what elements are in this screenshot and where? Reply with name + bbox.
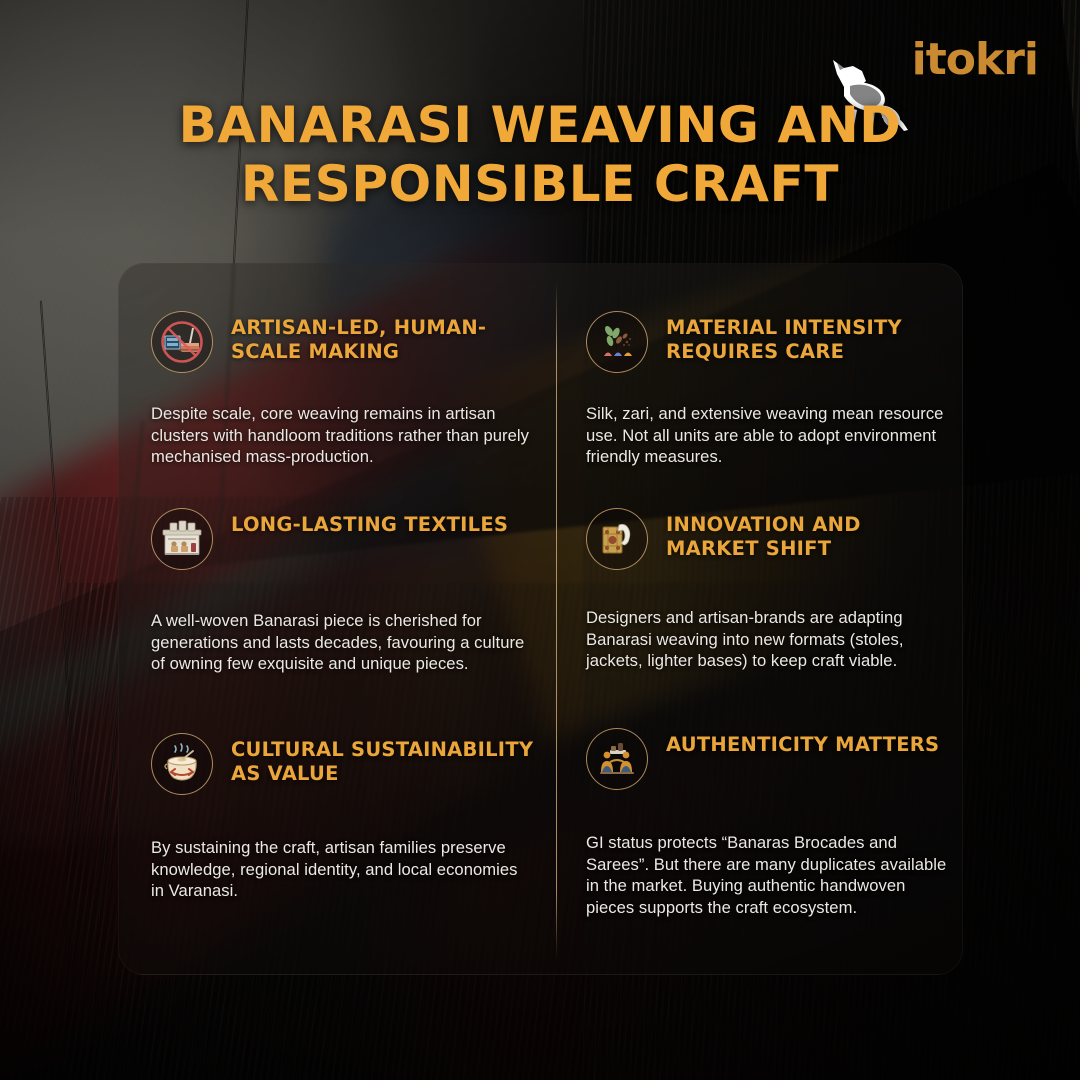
craft-shop-icon [151,508,213,570]
card-title: MATERIAL INTENSITY REQUIRES CARE [666,311,950,364]
page-title: BANARASI WEAVING AND RESPONSIBLE CRAFT [0,96,1080,214]
card-title: AUTHENTICITY MATTERS [666,728,939,757]
hand-holding-fabric-swatch-icon [586,508,648,570]
card-title: LONG-LASTING TEXTILES [231,508,508,537]
content-panel: ARTISAN-LED, HUMAN-SCALE MAKING Despite … [118,263,963,975]
card-body: By sustaining the craft, artisan familie… [151,837,534,902]
card-material-intensity: MATERIAL INTENSITY REQUIRES CARE Silk, z… [556,264,964,474]
card-header: MATERIAL INTENSITY REQUIRES CARE [586,311,950,373]
brand-logo: itokri [912,34,1038,85]
two-artisans-seated-icon [586,728,648,790]
card-body: Designers and artisan-brands are adaptin… [586,607,950,672]
card-title: CULTURAL SUSTAINABILITY AS VALUE [231,733,534,786]
no-machine-loom-icon [151,311,213,373]
card-body: Silk, zari, and extensive weaving mean r… [586,403,950,468]
card-title: ARTISAN-LED, HUMAN-SCALE MAKING [231,311,534,364]
card-body: GI status protects “Banaras Brocades and… [586,832,950,919]
card-long-lasting-textiles: LONG-LASTING TEXTILES A well-woven Banar… [119,474,556,690]
card-artisan-led: ARTISAN-LED, HUMAN-SCALE MAKING Despite … [119,264,556,474]
natural-dye-leaves-icon [586,311,648,373]
page-title-line-2: RESPONSIBLE CRAFT [0,155,1080,214]
card-body: A well-woven Banarasi piece is cherished… [151,610,534,675]
card-cultural-sustainability: CULTURAL SUSTAINABILITY AS VALUE By sust… [119,690,556,976]
brand-name: itokri [912,34,1038,85]
page-title-line-1: BANARASI WEAVING AND [179,96,902,154]
cards-grid: ARTISAN-LED, HUMAN-SCALE MAKING Despite … [119,264,962,974]
card-header: CULTURAL SUSTAINABILITY AS VALUE [151,733,534,795]
card-header: LONG-LASTING TEXTILES [151,508,534,570]
card-title: INNOVATION AND MARKET SHIFT [666,508,950,561]
header: itokri BANARASI WEAVING AND RESPONSIBLE … [0,0,1080,262]
card-header: INNOVATION AND MARKET SHIFT [586,508,950,570]
steaming-pot-icon [151,733,213,795]
card-header: AUTHENTICITY MATTERS [586,728,950,790]
card-body: Despite scale, core weaving remains in a… [151,403,534,468]
card-header: ARTISAN-LED, HUMAN-SCALE MAKING [151,311,534,373]
card-innovation-market-shift: INNOVATION AND MARKET SHIFT Designers an… [556,474,964,690]
card-authenticity-matters: AUTHENTICITY MATTERS GI status protects … [556,690,964,976]
